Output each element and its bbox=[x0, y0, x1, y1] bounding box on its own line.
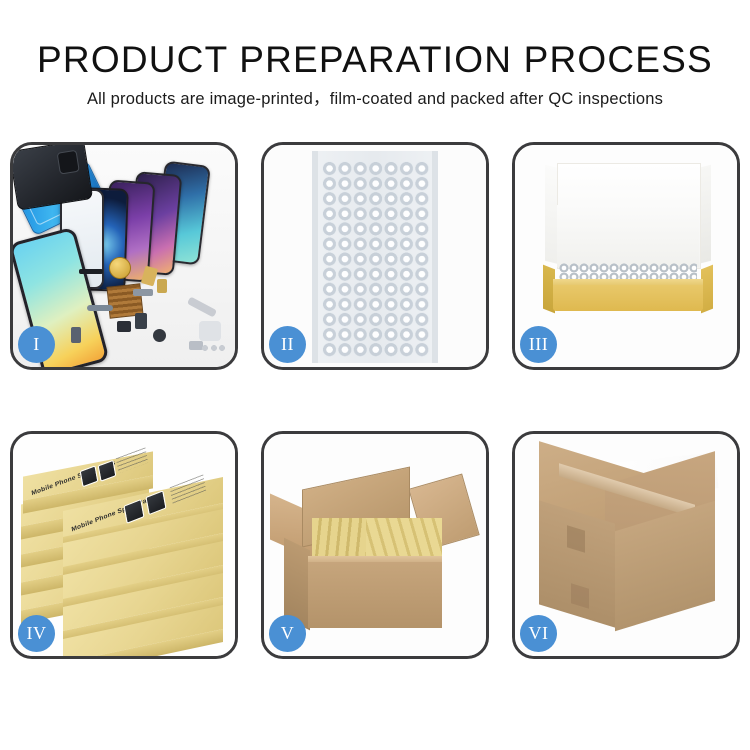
step-badge-5: V bbox=[269, 615, 306, 652]
step-badge-2: II bbox=[269, 326, 306, 363]
retail-box-stack: Mobile Phone Spare Parts Mobile Phone Sp… bbox=[19, 456, 231, 642]
spare-part bbox=[135, 313, 147, 329]
carton-front-face bbox=[308, 562, 442, 628]
step-badge-4: IV bbox=[18, 615, 55, 652]
foam-insert bbox=[557, 205, 699, 267]
speaker-coil-part bbox=[109, 257, 131, 279]
screws-set bbox=[201, 343, 225, 353]
step-badge-1: I bbox=[18, 326, 55, 363]
bubble-highlights bbox=[322, 161, 430, 357]
spare-part bbox=[117, 321, 131, 332]
page-subtitle: All products are image-printed，film-coat… bbox=[0, 88, 750, 110]
spare-part bbox=[153, 329, 166, 342]
process-step-panel-1[interactable]: I bbox=[10, 142, 238, 370]
box-front-kraft bbox=[553, 285, 703, 311]
header: PRODUCT PREPARATION PROCESS All products… bbox=[0, 0, 750, 110]
process-step-panel-4[interactable]: Mobile Phone Spare Parts Mobile Phone Sp… bbox=[10, 431, 238, 659]
spare-part bbox=[79, 269, 103, 274]
spare-part bbox=[71, 327, 81, 343]
step-badge-6: VI bbox=[520, 615, 557, 652]
spare-part bbox=[87, 305, 113, 311]
spare-part bbox=[199, 321, 221, 341]
process-step-panel-5[interactable]: V bbox=[261, 431, 489, 659]
step-badge-3: III bbox=[520, 326, 557, 363]
process-step-panel-6[interactable]: VI bbox=[512, 431, 740, 659]
product-preparation-page: PRODUCT PREPARATION PROCESS All products… bbox=[0, 0, 750, 750]
spare-part bbox=[133, 289, 153, 296]
process-step-panel-3[interactable]: III bbox=[512, 142, 740, 370]
process-step-grid: I II bbox=[10, 142, 740, 687]
spare-part bbox=[157, 279, 167, 293]
process-step-panel-2[interactable]: II bbox=[261, 142, 489, 370]
page-title: PRODUCT PREPARATION PROCESS bbox=[0, 38, 750, 82]
